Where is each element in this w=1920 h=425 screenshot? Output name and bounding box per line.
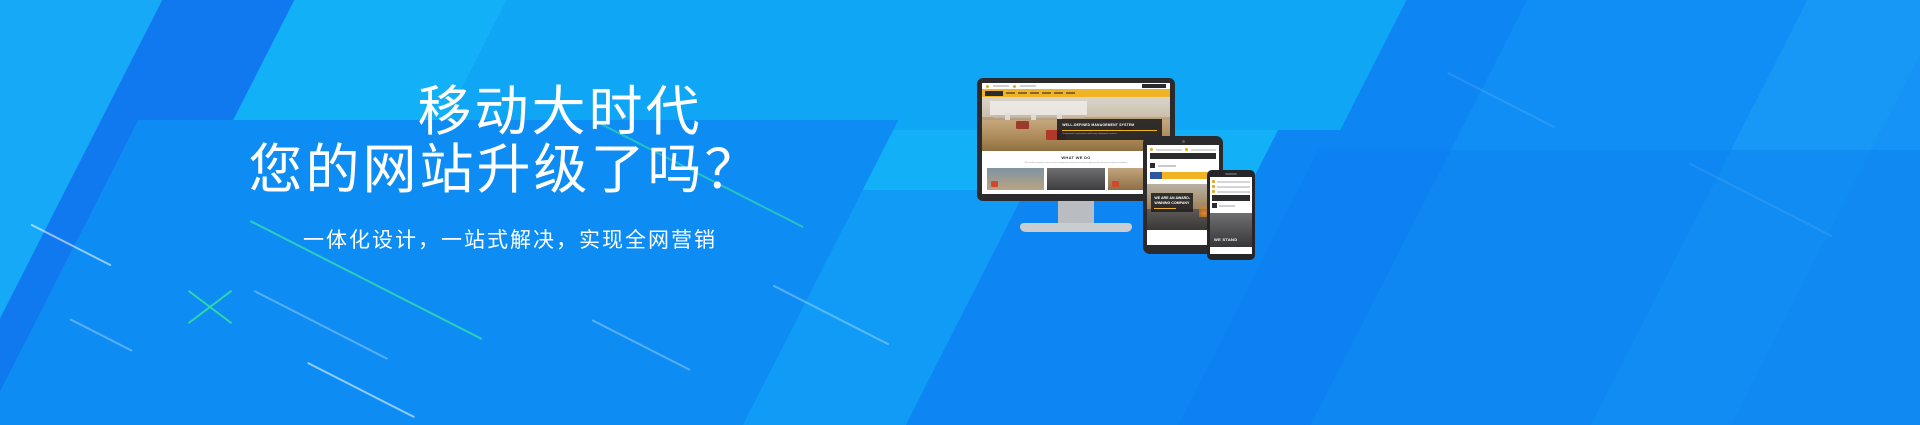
contact-text: [993, 85, 1009, 87]
monitor-stand-neck: [1058, 201, 1094, 223]
nav-item-projects[interactable]: [1042, 92, 1051, 94]
site-hero: WELL-DEFINED MANAGEMENT SYSTEM Professio…: [982, 97, 1170, 151]
mail-icon: [1013, 85, 1016, 88]
request-quote-bar[interactable]: [1150, 153, 1216, 159]
phone-icon: [1150, 148, 1153, 151]
contact-row: [1150, 148, 1216, 151]
site-logo[interactable]: [1150, 163, 1155, 168]
contact-row: [1212, 180, 1250, 183]
request-quote-button[interactable]: [1142, 84, 1166, 88]
nav-item-services[interactable]: [1030, 92, 1039, 94]
hero-rule: [1062, 130, 1157, 131]
tablet-hero-caption: WE ARE AN AWARD-WINNING COMPANY: [1151, 193, 1193, 212]
speaker-icon: [1225, 173, 1237, 175]
headline-line-1: 移动大时代: [0, 85, 990, 139]
site-logo[interactable]: [1212, 203, 1217, 208]
hero-title: WE STAND: [1214, 237, 1237, 242]
contact-row: [1212, 190, 1250, 193]
phone-bezel: WE STAND: [1207, 170, 1255, 260]
hero-title: WELL-DEFINED MANAGEMENT SYSTEM: [1062, 123, 1157, 128]
service-card[interactable]: [987, 168, 1044, 190]
phone-screen: WE STAND: [1210, 177, 1252, 254]
logo-text: [1219, 205, 1235, 207]
site-logo-row[interactable]: [1212, 203, 1250, 208]
contact-line: [1191, 149, 1217, 151]
nav-item-contact[interactable]: [1066, 92, 1075, 94]
service-cards: [982, 168, 1170, 194]
request-quote-button[interactable]: [1212, 195, 1250, 201]
hero-rule: [1154, 208, 1175, 209]
headline-line-2: 您的网站升级了吗？: [0, 143, 990, 197]
section-title: WHAT WE DO: [987, 155, 1165, 160]
mail-icon: [1185, 148, 1188, 151]
nav-item-home[interactable]: [1006, 92, 1015, 94]
card-marker-icon: [1112, 181, 1119, 187]
camera-icon: [1182, 140, 1185, 143]
smartphone-device: WE STAND: [1207, 170, 1255, 260]
pin-icon: [1212, 190, 1215, 193]
section-text: We provide complete construction managem…: [987, 162, 1165, 165]
card-marker-icon: [991, 181, 998, 187]
service-card[interactable]: [1047, 168, 1104, 190]
contact-line: [1217, 186, 1250, 188]
contact-line: [1217, 181, 1250, 183]
phone-hero: WE STAND: [1210, 213, 1252, 247]
site-logo-row[interactable]: [1150, 161, 1216, 170]
nav-item-news[interactable]: [1054, 92, 1063, 94]
site-nav: [982, 89, 1170, 97]
mail-icon: [1212, 185, 1215, 188]
banner-copy: 移动大时代 您的网站升级了吗？ 一体化设计，一站式解决，实现全网营销: [0, 0, 990, 425]
contact-text-2: [1020, 85, 1036, 87]
phone-site-header: [1210, 177, 1252, 213]
monitor-screen: WELL-DEFINED MANAGEMENT SYSTEM Professio…: [982, 83, 1170, 194]
contact-line: [1217, 191, 1250, 193]
device-mockups: WELL-DEFINED MANAGEMENT SYSTEM Professio…: [955, 78, 1285, 278]
phone-icon: [986, 85, 989, 88]
nav-item-about[interactable]: [1018, 92, 1027, 94]
monitor-stand-base: [1020, 223, 1132, 232]
site-logo[interactable]: [985, 91, 1003, 96]
contact-row: [1212, 185, 1250, 188]
hero-truck: [1016, 121, 1029, 129]
logo-text: [1158, 165, 1176, 167]
contact-line: [1156, 149, 1182, 151]
phone-icon: [1212, 180, 1215, 183]
promo-banner: 移动大时代 您的网站升级了吗？ 一体化设计，一站式解决，实现全网营销: [0, 0, 1920, 425]
hero-title: WE ARE AN AWARD-WINNING COMPANY: [1154, 196, 1190, 206]
what-we-do-section: WHAT WE DO We provide complete construct…: [982, 151, 1170, 168]
subheadline: 一体化设计，一站式解决，实现全网营销: [0, 224, 990, 254]
